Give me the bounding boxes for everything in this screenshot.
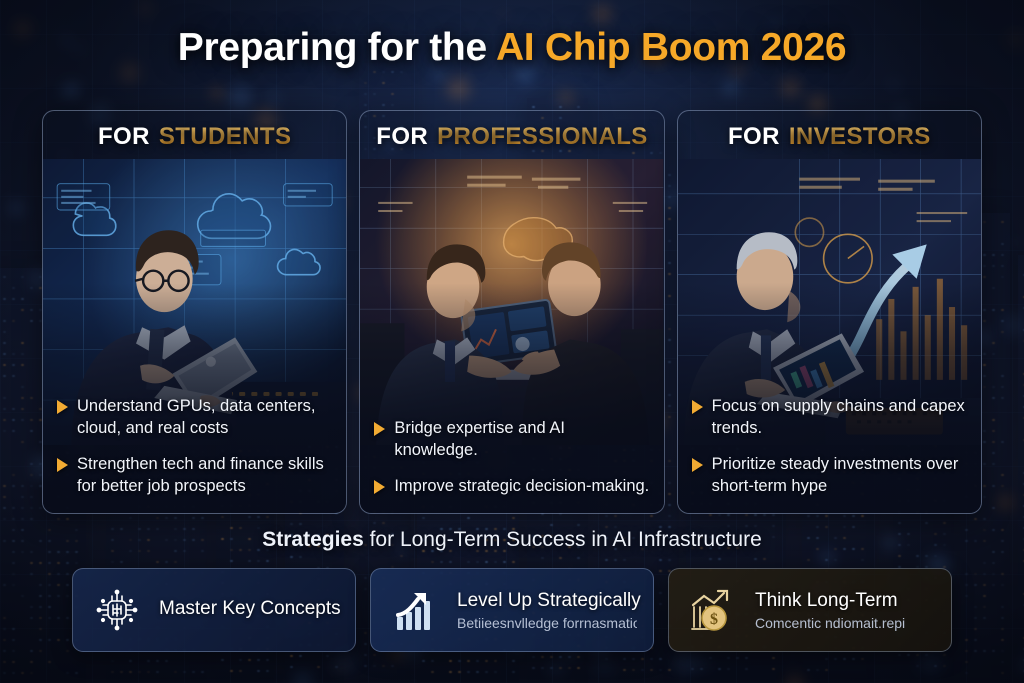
triangle-bullet-icon <box>374 422 385 436</box>
bullet-text: Understand GPUs, data centers, cloud, an… <box>77 395 334 439</box>
card-investors[interactable]: FORINVESTORS Focus on supply chains and … <box>677 110 982 514</box>
bank-coin-growth-icon: $ <box>685 582 741 638</box>
bullet-item: Prioritize steady investments over short… <box>692 453 969 497</box>
card-investors-heading-accent: INVESTORS <box>789 123 931 151</box>
bullet-text: Bridge expertise and AI knowledge. <box>394 417 651 461</box>
page-title-accent: AI Chip Boom 2026 <box>496 26 846 69</box>
bullet-item: Understand GPUs, data centers, cloud, an… <box>57 395 334 439</box>
strategy-pills: Master Key Concepts Level Up S <box>72 568 952 652</box>
pill-title: Think Long-Term <box>755 590 905 612</box>
triangle-bullet-icon <box>57 458 68 472</box>
card-students-bullets: Understand GPUs, data centers, cloud, an… <box>57 395 334 497</box>
pill-master-key-concepts[interactable]: Master Key Concepts <box>72 568 356 652</box>
bottom-subtitle: Strategies for Long-Term Success in AI I… <box>0 528 1024 552</box>
bullet-text: Focus on supply chains and capex trends. <box>712 395 969 439</box>
bottom-subtitle-rest: for Long-Term Success in AI Infrastructu… <box>364 528 762 551</box>
card-students-heading-accent: STUDENTS <box>159 123 292 151</box>
page-title: Preparing for the AI Chip Boom 2026 <box>0 26 1024 70</box>
card-professionals-heading-plain: FOR <box>376 123 428 151</box>
triangle-bullet-icon <box>692 458 703 472</box>
pill-text-group: Think Long-Term Comcentic ndiomait.repi <box>755 590 905 631</box>
pill-text-group: Master Key Concepts <box>159 598 339 623</box>
pill-level-up-strategically[interactable]: Level Up Strategically Betiieesnvlledge … <box>370 568 654 652</box>
page-title-plain: Preparing for the <box>178 26 496 69</box>
card-professionals[interactable]: FORPROFESSIONALS Bridge expertise and AI… <box>359 110 664 514</box>
card-students-heading: FORSTUDENTS <box>43 111 346 163</box>
bullet-item: Bridge expertise and AI knowledge. <box>374 417 651 461</box>
bullet-text: Strengthen tech and finance skills for b… <box>77 453 334 497</box>
pill-subtitle: Betiieesnvlledge forrnasmatiop <box>457 615 637 631</box>
bottom-subtitle-bold: Strategies <box>262 528 364 551</box>
svg-text:$: $ <box>710 611 718 628</box>
pill-think-long-term[interactable]: $ Think Long-Term Comcentic ndiomait.rep… <box>668 568 952 652</box>
card-students-heading-plain: FOR <box>98 123 150 151</box>
card-professionals-bullets: Bridge expertise and AI knowledge. Impro… <box>374 417 651 497</box>
persona-cards: FORSTUDENTS Understand GPUs, data center… <box>42 110 982 514</box>
bullet-text: Improve strategic decision-making. <box>394 475 649 497</box>
triangle-bullet-icon <box>692 400 703 414</box>
card-investors-bullets: Focus on supply chains and capex trends.… <box>692 395 969 497</box>
bullet-item: Focus on supply chains and capex trends. <box>692 395 969 439</box>
chip-circuit-icon <box>89 582 145 638</box>
card-professionals-heading-accent: PROFESSIONALS <box>437 123 648 151</box>
pill-subtitle: Comcentic ndiomait.repi <box>755 615 905 631</box>
card-investors-heading-plain: FOR <box>728 123 780 151</box>
triangle-bullet-icon <box>57 400 68 414</box>
pill-title: Level Up Strategically <box>457 590 637 612</box>
growth-bar-chart-icon <box>387 582 443 638</box>
card-investors-heading: FORINVESTORS <box>678 111 981 163</box>
pill-text-group: Level Up Strategically Betiieesnvlledge … <box>457 590 637 631</box>
bullet-item: Strengthen tech and finance skills for b… <box>57 453 334 497</box>
card-professionals-heading: FORPROFESSIONALS <box>360 111 663 163</box>
bullet-item: Improve strategic decision-making. <box>374 475 651 497</box>
triangle-bullet-icon <box>374 480 385 494</box>
pill-title: Master Key Concepts <box>159 598 339 620</box>
bullet-text: Prioritize steady investments over short… <box>712 453 969 497</box>
card-students[interactable]: FORSTUDENTS Understand GPUs, data center… <box>42 110 347 514</box>
